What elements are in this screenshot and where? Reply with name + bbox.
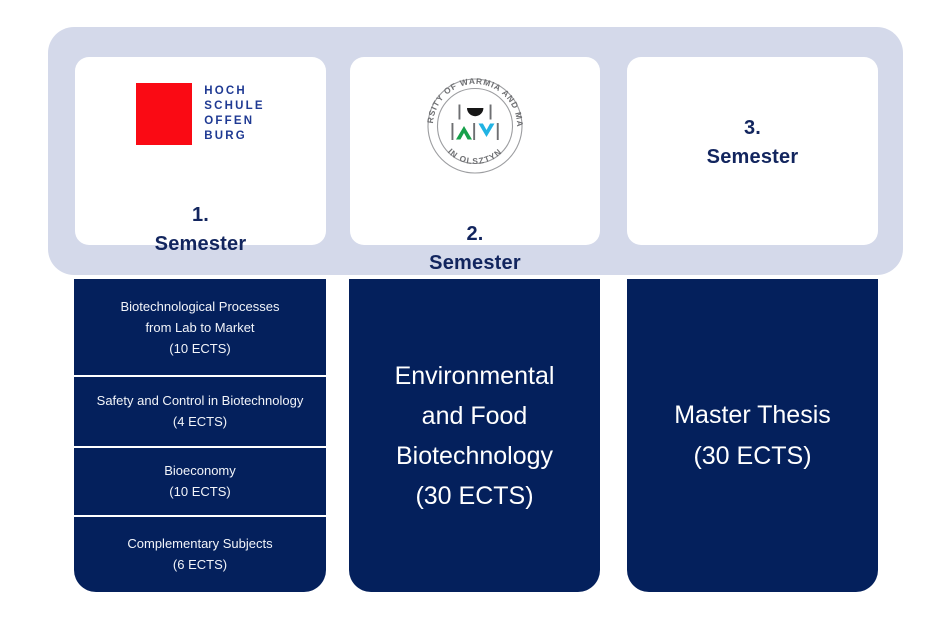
module-block[interactable]: Safety and Control in Biotechnology (4 E…	[74, 376, 326, 446]
semester-3-module-column[interactable]: Master Thesis (30 ECTS)	[627, 279, 878, 592]
hso-wordmark-line-1: HOCH	[204, 84, 264, 99]
module-block: Environmental and Food Biotechnology (30…	[383, 356, 567, 516]
module-ects: (30 ECTS)	[674, 436, 831, 477]
svg-text:IN OLSZTYN: IN OLSZTYN	[446, 146, 504, 166]
module-ects: (10 ECTS)	[169, 338, 230, 359]
diagram-canvas: HOCH SCHULE OFFEN BURG 1. Semester UNIVE…	[0, 0, 950, 621]
module-title-line-1: Bioeconomy	[164, 460, 236, 481]
semester-card-3-term: Semester	[707, 143, 799, 172]
module-ects: (10 ECTS)	[169, 481, 230, 502]
semester-card-1-term: Semester	[155, 230, 247, 259]
module-title-line-3: Biotechnology	[395, 436, 555, 476]
semester-card-2-term: Semester	[429, 249, 521, 278]
module-title-line-1: Biotechnological Processes	[121, 296, 280, 317]
semester-card-1-label: 1. Semester	[155, 201, 247, 259]
hochschule-offenburg-mark-icon	[136, 83, 192, 145]
hso-wordmark-line-4: BURG	[204, 129, 264, 144]
semester-card-1[interactable]: HOCH SCHULE OFFEN BURG 1. Semester	[75, 57, 326, 245]
module-ects: (6 ECTS)	[173, 554, 227, 575]
hso-wordmark-line-3: OFFEN	[204, 114, 264, 129]
module-ects: (4 ECTS)	[173, 411, 227, 432]
module-block[interactable]: Bioeconomy (10 ECTS)	[74, 447, 326, 515]
semester-2-module-column[interactable]: Environmental and Food Biotechnology (30…	[349, 279, 600, 592]
semester-card-3-label: 3. Semester	[707, 114, 799, 172]
semester-card-3[interactable]: 3. Semester	[627, 57, 878, 245]
module-block[interactable]: Complementary Subjects (6 ECTS)	[74, 516, 326, 592]
module-title-line-1: Safety and Control in Biotechnology	[97, 390, 304, 411]
module-title-line-2: and Food	[395, 396, 555, 436]
module-title-line-1: Complementary Subjects	[127, 533, 272, 554]
module-block: Master Thesis (30 ECTS)	[662, 395, 843, 477]
module-title-line-2: from Lab to Market	[145, 317, 254, 338]
semester-card-3-number: 3.	[707, 114, 799, 143]
module-block[interactable]: Biotechnological Processes from Lab to M…	[74, 279, 326, 375]
semester-card-2-label: 2. Semester	[429, 220, 521, 278]
university-of-warmia-and-mazury-seal-icon: UNIVERSITY OF WARMIA AND MAZURY IN OLSZT…	[420, 71, 530, 181]
semester-1-module-column: Biotechnological Processes from Lab to M…	[74, 279, 326, 592]
module-title-line-1: Master Thesis	[674, 395, 831, 436]
hochschule-offenburg-wordmark: HOCH SCHULE OFFEN BURG	[204, 84, 264, 144]
module-ects: (30 ECTS)	[395, 476, 555, 516]
semester-card-2-number: 2.	[429, 220, 521, 249]
semester-card-1-number: 1.	[155, 201, 247, 230]
semester-card-2[interactable]: UNIVERSITY OF WARMIA AND MAZURY IN OLSZT…	[350, 57, 600, 245]
module-title-line-1: Environmental	[395, 356, 555, 396]
hochschule-offenburg-logo: HOCH SCHULE OFFEN BURG	[136, 83, 264, 145]
hso-wordmark-line-2: SCHULE	[204, 99, 264, 114]
